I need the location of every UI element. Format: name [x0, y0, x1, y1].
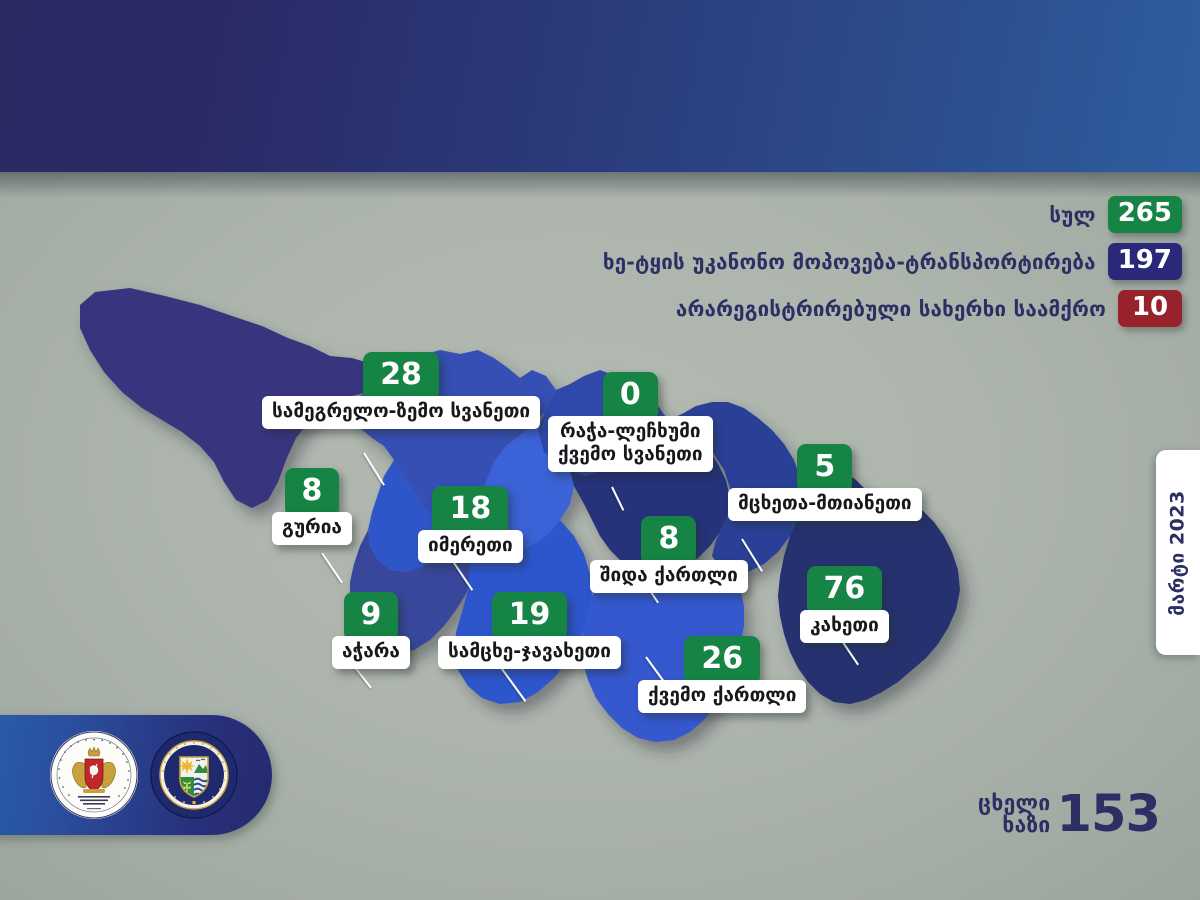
callout-guria[interactable]: 8 გურია [272, 468, 352, 545]
callout-value-shida-kartli: 8 [641, 516, 696, 565]
logo-pill [0, 715, 272, 835]
hotline-words: ცხელი ხაზი [978, 793, 1051, 837]
callout-label-kakheti: კახეთი [800, 610, 889, 643]
callout-label-samegrelo-zemo-svaneti: სამეგრელო-ზემო სვანეთი [262, 396, 540, 429]
header-band [0, 0, 1200, 172]
callout-label-samtskhe-javakheti: სამცხე-ჯავახეთი [438, 636, 621, 669]
callout-adjara[interactable]: 9 აჭარა [332, 592, 410, 669]
hotline: ცხელი ხაზი 153 [978, 792, 1160, 838]
callout-value-adjara: 9 [344, 592, 399, 641]
callout-value-samegrelo-zemo-svaneti: 28 [363, 352, 439, 401]
callout-racha-lechkhumi-kvemo-svaneti[interactable]: 0 რაჭა-ლეჩხუმი ქვემო სვანეთი [548, 372, 713, 472]
callout-label-shida-kartli: შიდა ქართლი [590, 560, 748, 593]
callout-label-kvemo-kartli: ქვემო ქართლი [638, 680, 806, 713]
hotline-line-2: ხაზი [978, 815, 1051, 837]
callout-value-kakheti: 76 [807, 566, 883, 615]
callout-mtskheta-mtianeti[interactable]: 5 მცხეთა-მთიანეთი [728, 444, 922, 521]
legend-label-illegal-logging-transport: ხე-ტყის უკანონო მოპოვება-ტრანსპორტირება [603, 250, 1096, 274]
callout-samtskhe-javakheti[interactable]: 19 სამცხე-ჯავახეთი [438, 592, 621, 669]
ministry-emblem-icon [50, 731, 138, 819]
callout-value-kvemo-kartli: 26 [684, 636, 760, 685]
callout-kakheti[interactable]: 76 კახეთი [800, 566, 889, 643]
callout-label-mtskheta-mtianeti: მცხეთა-მთიანეთი [728, 488, 922, 521]
callout-value-mtskheta-mtianeti: 5 [797, 444, 852, 493]
infographic-poster: უკანონო ტყითსარგებლობის სტატისტიკა [0, 0, 1200, 900]
legend-badge-illegal-logging-transport: 197 [1108, 243, 1182, 280]
legend: სულ 265 ხე-ტყის უკანონო მოპოვება-ტრანსპო… [603, 196, 1182, 327]
callout-value-samtskhe-javakheti: 19 [492, 592, 568, 641]
callout-imereti[interactable]: 18 იმერეთი [418, 486, 523, 563]
environmental-supervision-emblem-icon [150, 731, 238, 819]
callout-label-imereti: იმერეთი [418, 530, 523, 563]
legend-row-unregistered-sawmill: არარეგისტრირებული სახერხი საამქრო 10 [676, 290, 1182, 327]
hotline-number: 153 [1057, 792, 1160, 838]
legend-badge-total: 265 [1108, 196, 1182, 233]
callout-samegrelo-zemo-svaneti[interactable]: 28 სამეგრელო-ზემო სვანეთი [262, 352, 540, 429]
callout-value-imereti: 18 [432, 486, 508, 535]
date-chip-label: მარტი 2023 [1167, 490, 1189, 615]
legend-badge-unregistered-sawmill: 10 [1118, 290, 1182, 327]
callout-value-guria: 8 [285, 468, 340, 517]
callout-shida-kartli[interactable]: 8 შიდა ქართლი [590, 516, 748, 593]
legend-label-unregistered-sawmill: არარეგისტრირებული სახერხი საამქრო [676, 297, 1106, 321]
callout-label-racha-lechkhumi-kvemo-svaneti: რაჭა-ლეჩხუმი ქვემო სვანეთი [548, 416, 713, 472]
legend-row-illegal-logging-transport: ხე-ტყის უკანონო მოპოვება-ტრანსპორტირება … [603, 243, 1182, 280]
callout-label-adjara: აჭარა [332, 636, 410, 669]
callout-label-guria: გურია [272, 512, 352, 545]
callout-value-racha-lechkhumi-kvemo-svaneti: 0 [603, 372, 658, 421]
legend-label-total: სულ [1049, 203, 1095, 227]
legend-row-total: სულ 265 [1049, 196, 1182, 233]
hotline-line-1: ცხელი [978, 793, 1051, 815]
callout-kvemo-kartli[interactable]: 26 ქვემო ქართლი [638, 636, 806, 713]
date-chip: მარტი 2023 [1156, 450, 1200, 655]
